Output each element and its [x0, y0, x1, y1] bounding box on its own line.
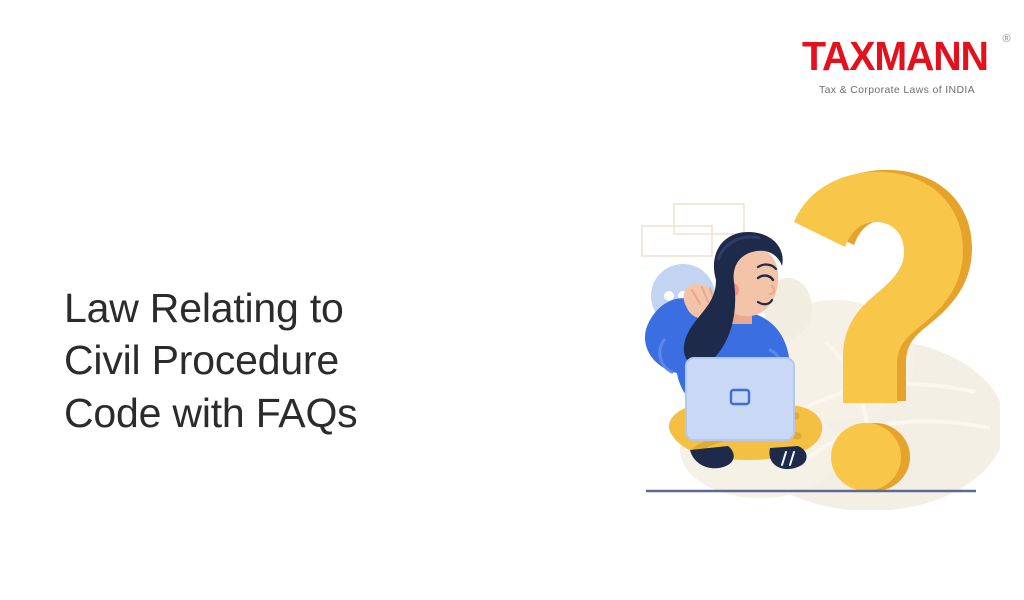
logo-tagline: Tax & Corporate Laws of INDIA [802, 84, 992, 96]
poster-page: TAXMANN ® Tax & Corporate Laws of INDIA … [0, 0, 1024, 600]
taxmann-logo: TAXMANN ® Tax & Corporate Laws of INDIA [802, 36, 992, 96]
laptop-icon [686, 358, 794, 440]
logo-wordmark: TAXMANN [802, 36, 988, 77]
page-title-line-1: Law Relating to [64, 282, 484, 334]
logo-wordmark-wrap: TAXMANN ® [802, 36, 996, 77]
page-title-line-3: Code with FAQs [64, 387, 484, 439]
question-mark-dot [831, 423, 910, 491]
hero-illustration [620, 160, 1000, 510]
illustration-svg [620, 160, 1000, 510]
registered-trademark-icon: ® [1002, 34, 1010, 45]
page-title: Law Relating to Civil Procedure Code wit… [64, 282, 484, 439]
page-title-line-2: Civil Procedure [64, 334, 484, 386]
